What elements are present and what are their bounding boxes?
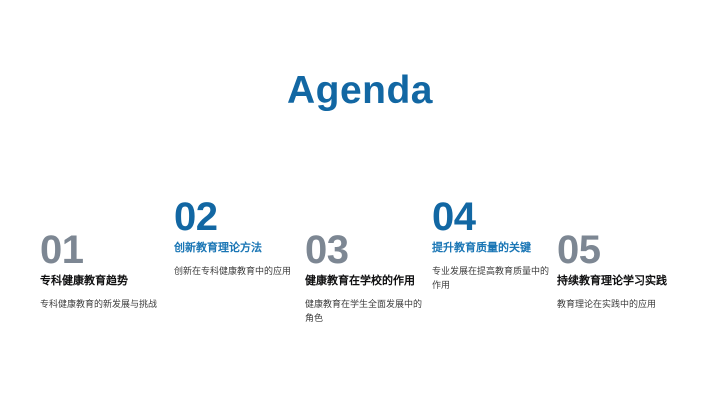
agenda-item-title: 提升教育质量的关键 (432, 241, 564, 256)
agenda-item-02[interactable]: 02 创新教育理论方法 创新在专科健康教育中的应用 (174, 195, 306, 278)
agenda-item-number: 02 (174, 195, 306, 239)
agenda-item-number: 01 (40, 228, 172, 272)
agenda-item-05[interactable]: 05 持续教育理论学习实践 教育理论在实践中的应用 (557, 228, 689, 311)
agenda-item-number: 04 (432, 195, 564, 239)
agenda-item-01[interactable]: 01 专科健康教育趋势 专科健康教育的新发展与挑战 (40, 228, 172, 311)
agenda-slide: Agenda 01 专科健康教育趋势 专科健康教育的新发展与挑战 02 创新教育… (0, 0, 720, 405)
agenda-item-description: 专业发展在提高教育质量中的作用 (432, 264, 557, 292)
agenda-item-03[interactable]: 03 健康教育在学校的作用 健康教育在学生全面发展中的角色 (305, 228, 437, 325)
agenda-item-description: 教育理论在实践中的应用 (557, 297, 682, 311)
agenda-item-description: 创新在专科健康教育中的应用 (174, 264, 299, 278)
agenda-item-title: 创新教育理论方法 (174, 241, 306, 256)
agenda-item-description: 健康教育在学生全面发展中的角色 (305, 297, 430, 325)
agenda-item-description: 专科健康教育的新发展与挑战 (40, 297, 165, 311)
agenda-item-title: 健康教育在学校的作用 (305, 274, 437, 289)
agenda-item-04[interactable]: 04 提升教育质量的关键 专业发展在提高教育质量中的作用 (432, 195, 564, 292)
agenda-list: 01 专科健康教育趋势 专科健康教育的新发展与挑战 02 创新教育理论方法 创新… (0, 0, 720, 405)
agenda-item-title: 专科健康教育趋势 (40, 274, 172, 289)
agenda-item-title: 持续教育理论学习实践 (557, 274, 689, 289)
agenda-item-number: 03 (305, 228, 437, 272)
agenda-item-number: 05 (557, 228, 689, 272)
